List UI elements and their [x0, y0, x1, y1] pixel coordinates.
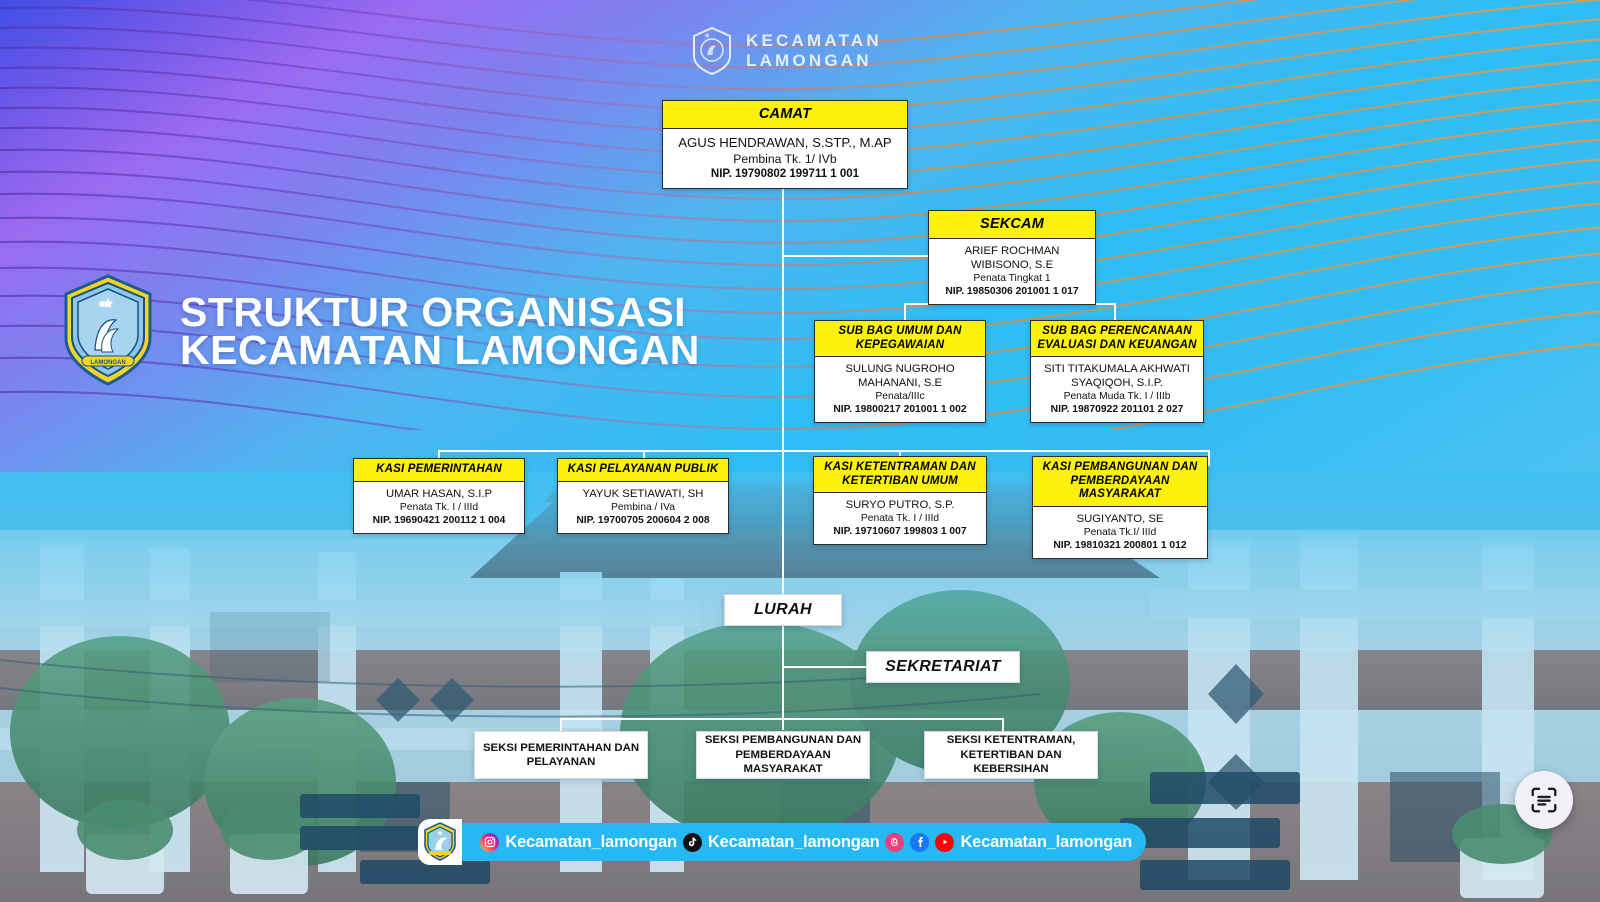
- connector-kasi-bus: [438, 450, 1210, 452]
- node-sekcam-rank: Penata Tingkat 1: [933, 272, 1091, 285]
- node-sekcam[interactable]: SEKCAM ARIEF ROCHMAN WIBISONO, S.E Penat…: [928, 210, 1096, 305]
- lamongan-crest-icon: LAMONGAN: [58, 272, 158, 390]
- node-kasi-3-nip: NIP. 19710607 199803 1 007: [818, 525, 982, 538]
- node-lurah[interactable]: LURAH: [724, 594, 842, 626]
- lamongan-crest-icon: [423, 822, 457, 862]
- lamongan-crest-icon: [690, 26, 734, 76]
- node-kasi-2-nip: NIP. 19700705 200604 2 008: [562, 514, 724, 527]
- node-kasi-4-nip: NIP. 19810321 200801 1 012: [1037, 539, 1203, 552]
- header-brand: KECAMATAN LAMONGAN: [690, 26, 882, 76]
- instagram-icon[interactable]: [480, 833, 499, 852]
- node-subbag-2-body: SITI TITAKUMALA AKHWATI SYAQIQOH, S.I.P.…: [1031, 357, 1203, 422]
- connector-camat-to-sekcam: [782, 255, 930, 257]
- poster-canvas: KECAMATAN LAMONGAN LAMONGAN STRUKTUR ORG…: [0, 0, 1600, 902]
- node-kasi-4-rank: Penata Tk.I/ IIId: [1037, 526, 1203, 539]
- node-subbag-1-nip: NIP. 19800217 201001 1 002: [819, 403, 981, 416]
- node-camat-title: CAMAT: [663, 101, 907, 129]
- youtube-handle[interactable]: Kecamatan_lamongan: [960, 833, 1132, 852]
- connector-seksi-drop-3: [1002, 718, 1004, 732]
- node-kasi-pelayanan-publik[interactable]: KASI PELAYANAN PUBLIK YAYUK SETIAWATI, S…: [557, 458, 729, 534]
- node-kasi-ketentraman-ketertiban[interactable]: KASI KETENTRAMAN DAN KETERTIBAN UMUM SUR…: [813, 456, 987, 545]
- node-kasi-4-title: KASI PEMBANGUNAN DAN PEMBERDAYAAN MASYAR…: [1033, 457, 1207, 507]
- node-seksi-2-title: SEKSI PEMBANGUNAN DAN PEMBERDAYAAN MASYA…: [703, 733, 863, 777]
- social-media-bar: Kecamatan_lamongan Kecamatan_lamongan: [418, 819, 1146, 865]
- node-camat-name: AGUS HENDRAWAN, S.STP., M.AP: [667, 134, 903, 151]
- connector-lurah-to-sekretariat: [782, 666, 868, 668]
- brand-line-1: KECAMATAN: [746, 31, 882, 51]
- node-lurah-title: LURAH: [754, 601, 812, 619]
- tiktok-handle[interactable]: Kecamatan_lamongan: [708, 833, 880, 852]
- connector-kasi-drop-4: [1208, 450, 1210, 466]
- node-kasi-4-body: SUGIYANTO, SE Penata Tk.I/ IIId NIP. 198…: [1033, 507, 1207, 558]
- node-sekretariat-title: SEKRETARIAT: [885, 658, 1001, 676]
- connector-seksi-bus: [560, 718, 1004, 720]
- page-title-block: LAMONGAN STRUKTUR ORGANISASI KECAMATAN L…: [58, 272, 700, 390]
- node-kasi-2-name: YAYUK SETIAWATI, SH: [562, 487, 724, 501]
- node-kasi-3-name: SURYO PUTRO, S.P.: [818, 498, 982, 512]
- node-subbag-1-title: SUB BAG UMUM DAN KEPEGAWAIAN: [815, 321, 985, 357]
- node-kasi-1-title: KASI PEMERINTAHAN: [354, 459, 524, 482]
- instagram-handle[interactable]: Kecamatan_lamongan: [505, 833, 677, 852]
- page-title-line-1: STRUKTUR ORGANISASI: [180, 293, 700, 331]
- node-sekcam-title: SEKCAM: [929, 211, 1095, 239]
- node-sekcam-body: ARIEF ROCHMAN WIBISONO, S.E Penata Tingk…: [929, 239, 1095, 304]
- node-sekretariat[interactable]: SEKRETARIAT: [866, 651, 1020, 683]
- facebook-icon[interactable]: [910, 833, 929, 852]
- node-kasi-3-body: SURYO PUTRO, S.P. Penata Tk. I / IIId NI…: [814, 493, 986, 544]
- node-camat-body: AGUS HENDRAWAN, S.STP., M.AP Pembina Tk.…: [663, 129, 907, 188]
- threads-icon[interactable]: [885, 833, 904, 852]
- node-seksi-pembangunan-pemberdayaan[interactable]: SEKSI PEMBANGUNAN DAN PEMBERDAYAAN MASYA…: [696, 731, 870, 779]
- node-kasi-pemerintahan[interactable]: KASI PEMERINTAHAN UMAR HASAN, S.I.P Pena…: [353, 458, 525, 534]
- scan-text-icon: [1529, 785, 1559, 815]
- node-seksi-ketentraman-kebersihan[interactable]: SEKSI KETENTRAMAN, KETERTIBAN DAN KEBERS…: [924, 731, 1098, 779]
- node-kasi-3-title: KASI KETENTRAMAN DAN KETERTIBAN UMUM: [814, 457, 986, 493]
- node-subbag-1-body: SULUNG NUGROHO MAHANANI, S.E Penata/IIIc…: [815, 357, 985, 422]
- node-subbag-umum-kepegawaian[interactable]: SUB BAG UMUM DAN KEPEGAWAIAN SULUNG NUGR…: [814, 320, 986, 423]
- node-kasi-1-nip: NIP. 19690421 200112 1 004: [358, 514, 520, 527]
- social-handles-strip: Kecamatan_lamongan Kecamatan_lamongan: [452, 823, 1146, 861]
- connector-seksi-drop-1: [560, 718, 562, 732]
- node-seksi-3-title: SEKSI KETENTRAMAN, KETERTIBAN DAN KEBERS…: [931, 733, 1091, 777]
- node-subbag-1-name: SULUNG NUGROHO MAHANANI, S.E: [819, 362, 981, 390]
- connector-camat-spine: [782, 184, 784, 730]
- social-bar-logo: [418, 819, 462, 865]
- node-seksi-1-title: SEKSI PEMERINTAHAN DAN PELAYANAN: [481, 741, 641, 770]
- page-title-text: STRUKTUR ORGANISASI KECAMATAN LAMONGAN: [180, 293, 700, 369]
- connector-subbag-right-drop: [1114, 303, 1116, 321]
- page-title-line-2: KECAMATAN LAMONGAN: [180, 331, 700, 369]
- node-kasi-1-rank: Penata Tk. I / IIId: [358, 501, 520, 514]
- svg-text:LAMONGAN: LAMONGAN: [90, 360, 125, 366]
- node-camat-nip: NIP. 19790802 199711 1 001: [667, 167, 903, 182]
- brand-text: KECAMATAN LAMONGAN: [746, 31, 882, 71]
- node-kasi-2-body: YAYUK SETIAWATI, SH Pembina / IVa NIP. 1…: [558, 482, 728, 533]
- node-kasi-1-body: UMAR HASAN, S.I.P Penata Tk. I / IIId NI…: [354, 482, 524, 533]
- node-sekcam-name: ARIEF ROCHMAN WIBISONO, S.E: [933, 244, 1091, 272]
- node-kasi-pembangunan-pemberdayaan[interactable]: KASI PEMBANGUNAN DAN PEMBERDAYAAN MASYAR…: [1032, 456, 1208, 559]
- node-subbag-2-rank: Penata Muda Tk. I / IIIb: [1035, 390, 1199, 403]
- node-kasi-1-name: UMAR HASAN, S.I.P: [358, 487, 520, 501]
- node-subbag-perencanaan-keuangan[interactable]: SUB BAG PERENCANAAN EVALUASI DAN KEUANGA…: [1030, 320, 1204, 423]
- node-kasi-3-rank: Penata Tk. I / IIId: [818, 512, 982, 525]
- node-subbag-2-nip: NIP. 19870922 201101 2 027: [1035, 403, 1199, 416]
- node-subbag-2-name: SITI TITAKUMALA AKHWATI SYAQIQOH, S.I.P.: [1035, 362, 1199, 390]
- node-sekcam-nip: NIP. 19850306 201001 1 017: [933, 285, 1091, 298]
- node-kasi-2-rank: Pembina / IVa: [562, 501, 724, 514]
- node-kasi-2-title: KASI PELAYANAN PUBLIK: [558, 459, 728, 482]
- node-subbag-1-rank: Penata/IIIc: [819, 390, 981, 403]
- node-camat-rank: Pembina Tk. 1/ IVb: [667, 151, 903, 167]
- scan-text-button[interactable]: [1515, 771, 1573, 829]
- tiktok-icon[interactable]: [683, 833, 702, 852]
- node-seksi-pemerintahan-pelayanan[interactable]: SEKSI PEMERINTAHAN DAN PELAYANAN: [474, 731, 648, 779]
- brand-line-2: LAMONGAN: [746, 51, 882, 71]
- node-kasi-4-name: SUGIYANTO, SE: [1037, 512, 1203, 526]
- node-subbag-2-title: SUB BAG PERENCANAAN EVALUASI DAN KEUANGA…: [1031, 321, 1203, 357]
- connector-subbag-left-drop: [904, 303, 906, 321]
- node-camat[interactable]: CAMAT AGUS HENDRAWAN, S.STP., M.AP Pembi…: [662, 100, 908, 189]
- youtube-icon[interactable]: [935, 833, 954, 852]
